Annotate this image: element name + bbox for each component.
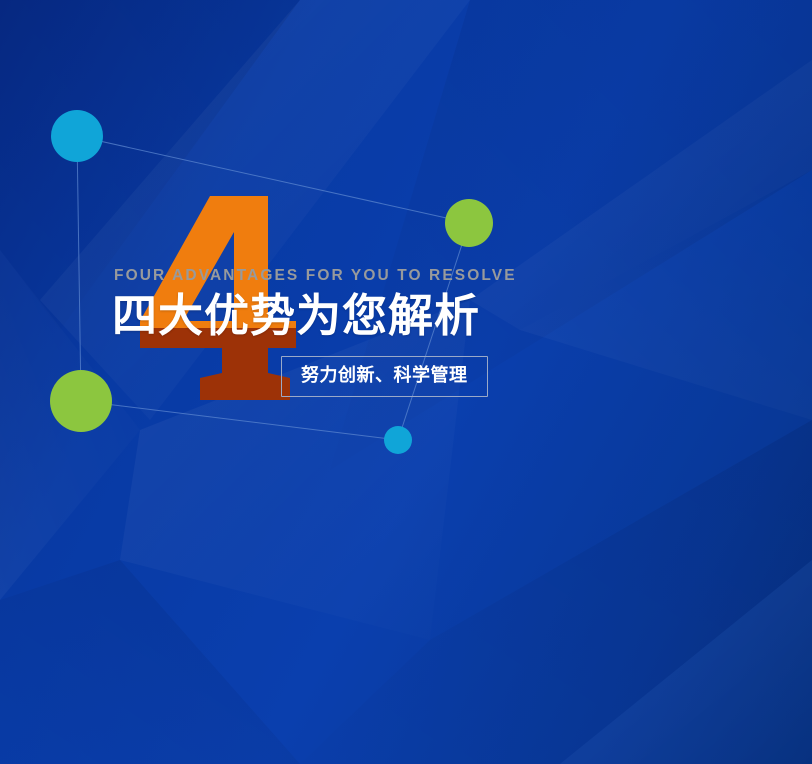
page-title: 四大优势为您解析 [112, 292, 752, 341]
tagline-text: 努力创新、科学管理 [301, 365, 468, 385]
node-green-large [50, 370, 112, 432]
node-cyan-large [51, 110, 103, 162]
tagline-box: 努力创新、科学管理 [281, 356, 488, 397]
promo-banner: FOUR ADVANTAGES FOR YOU TO RESOLVE 四大优势为… [0, 0, 812, 764]
node-cyan-small [384, 426, 412, 454]
edge-cyan-large-to-green-large [77, 136, 81, 401]
headline-block: FOUR ADVANTAGES FOR YOU TO RESOLVE 四大优势为… [112, 268, 752, 397]
tagline-row: 努力创新、科学管理 [112, 356, 752, 397]
eyebrow-text: FOUR ADVANTAGES FOR YOU TO RESOLVE [114, 268, 752, 284]
node-green-small [445, 199, 493, 247]
